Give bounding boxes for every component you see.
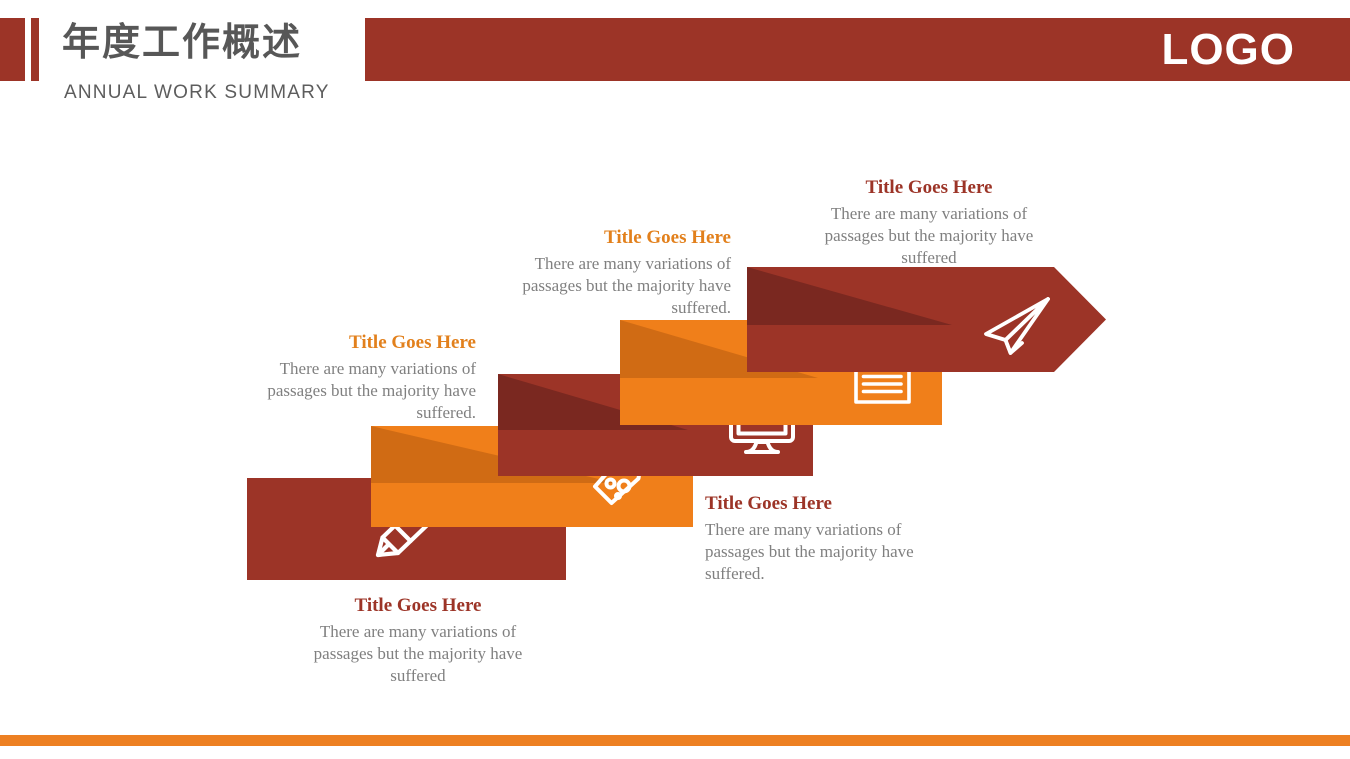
- footer-accent-bar: [0, 735, 1350, 746]
- step-title-3: Title Goes Here: [705, 492, 945, 516]
- step-body-5: There are many variations of passages bu…: [804, 203, 1054, 269]
- step-body-3: There are many variations of passages bu…: [705, 519, 945, 585]
- step-title-2: Title Goes Here: [240, 331, 476, 355]
- header-accent-bar-thick: [0, 18, 25, 81]
- step-body-1: There are many variations of passages bu…: [293, 621, 543, 687]
- step-text-2: Title Goes Here There are many variation…: [240, 331, 476, 424]
- step-title-5: Title Goes Here: [804, 176, 1054, 200]
- step-title-1: Title Goes Here: [293, 594, 543, 618]
- step-text-4: Title Goes Here There are many variation…: [495, 226, 731, 319]
- step-body-2: There are many variations of passages bu…: [240, 358, 476, 424]
- step-text-5: Title Goes Here There are many variation…: [804, 176, 1054, 269]
- step-text-3: Title Goes Here There are many variation…: [705, 492, 945, 585]
- logo-text: LOGO: [1161, 24, 1295, 76]
- step-body-4: There are many variations of passages bu…: [495, 253, 731, 319]
- step-title-4: Title Goes Here: [495, 226, 731, 250]
- header-accent-bar-thin: [31, 18, 39, 81]
- page-title-cn: 年度工作概述: [62, 19, 362, 65]
- slide-canvas: 年度工作概述 ANNUAL WORK SUMMARY LOGO: [0, 0, 1350, 759]
- page-subtitle-en: ANNUAL WORK SUMMARY: [64, 82, 404, 104]
- step-text-1: Title Goes Here There are many variation…: [293, 594, 543, 687]
- paper-plane-icon: [982, 295, 1056, 357]
